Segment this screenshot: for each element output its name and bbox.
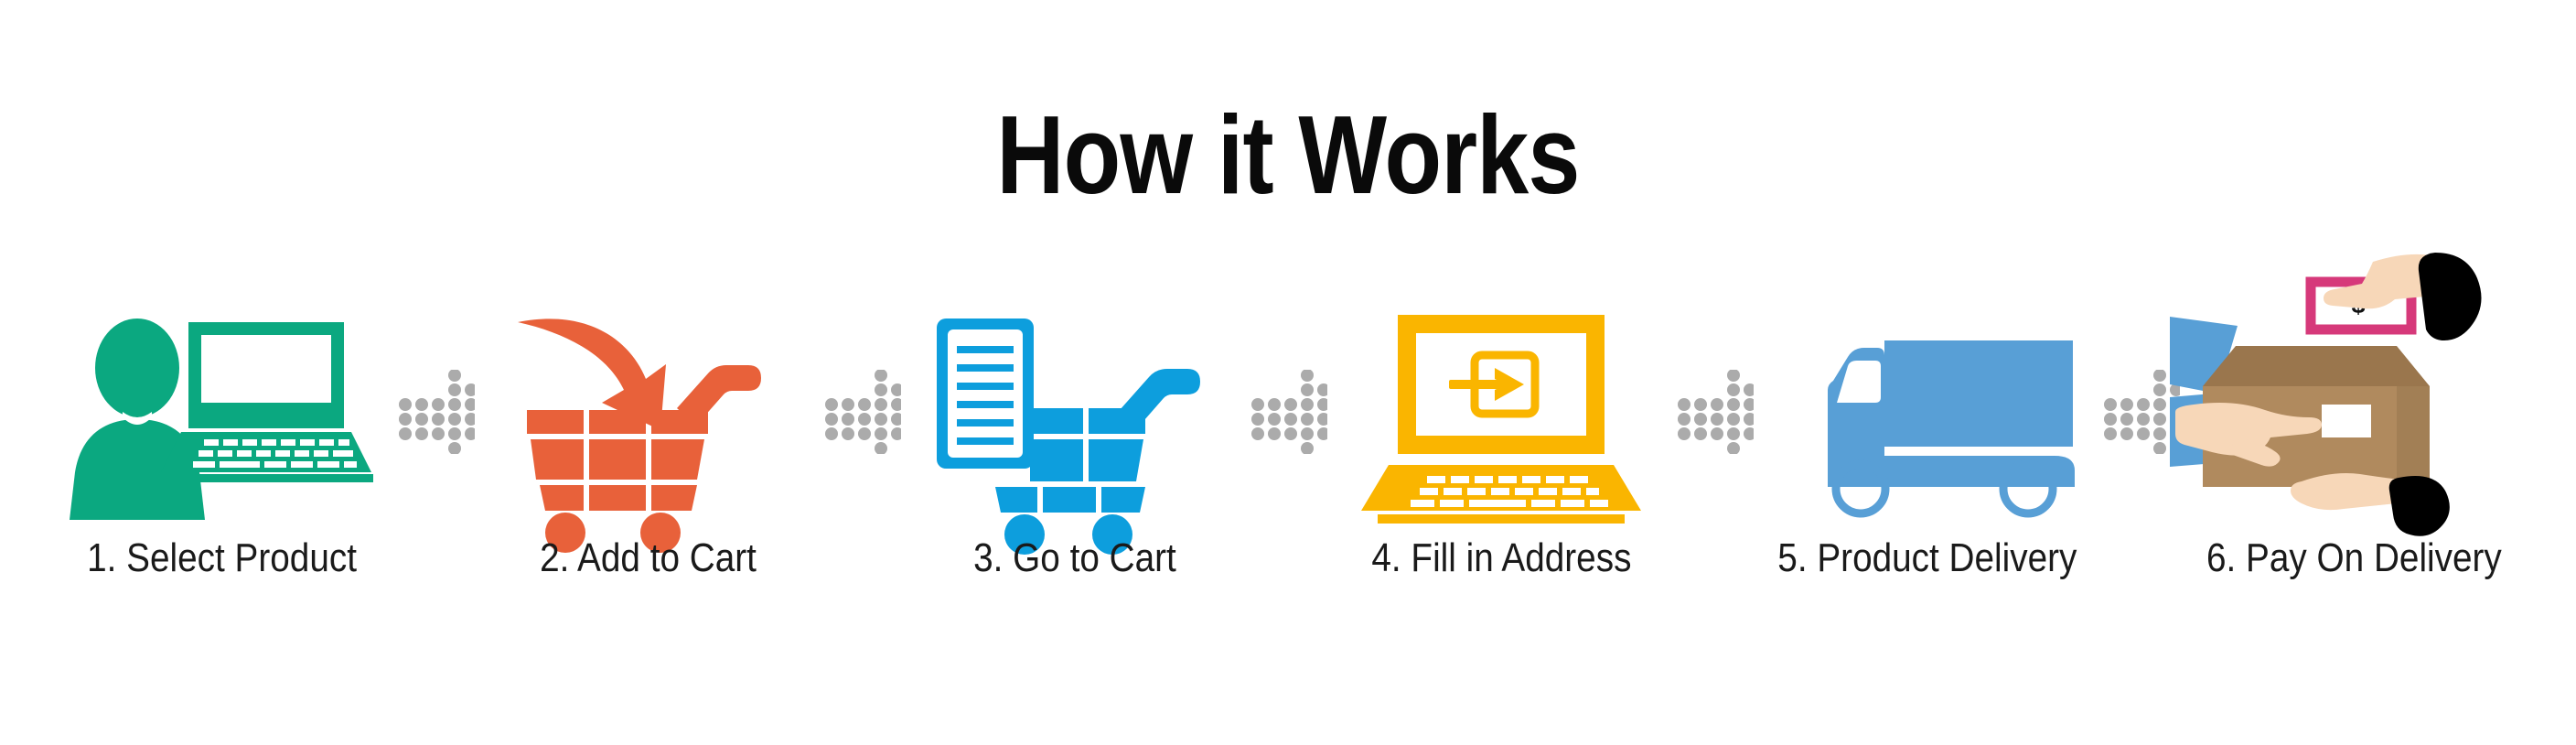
step-product-delivery[interactable]: 5. Product Delivery (1754, 302, 2101, 632)
step-select-product[interactable]: 1. Select Product (48, 302, 396, 632)
infographic-root: How it Works (0, 0, 2576, 745)
dotted-arrow-icon (2101, 370, 2180, 454)
customer-lower-hand (2291, 473, 2450, 536)
person-laptop-icon (71, 302, 373, 522)
document-cart-icon (924, 302, 1226, 522)
dotted-arrow-icon (822, 370, 901, 454)
icon-container (1350, 302, 1652, 522)
icon-container (924, 302, 1226, 522)
step-label: 4. Fill in Address (1371, 534, 1631, 582)
step-label: 2. Add to Cart (541, 534, 757, 582)
cart-arrow-icon (498, 302, 800, 522)
dotted-arrow-connector (1675, 302, 1754, 522)
icon-container (498, 302, 800, 522)
dotted-arrow-connector (396, 302, 475, 522)
step-go-to-cart[interactable]: 3. Go to Cart (901, 302, 1249, 632)
delivery-truck-icon (1776, 302, 2078, 522)
dotted-arrow-connector (1249, 302, 1327, 522)
icon-container (1776, 302, 2078, 522)
page-title: How it Works (206, 99, 2369, 211)
dotted-arrow-icon (1249, 370, 1327, 454)
icon-container: $ (2203, 302, 2505, 522)
hands-box-money-icon: $ (2203, 302, 2505, 522)
dotted-arrow-icon (396, 370, 475, 454)
step-fill-in-address[interactable]: 4. Fill in Address (1327, 302, 1675, 632)
step-add-to-cart[interactable]: 2. Add to Cart (475, 302, 822, 632)
dotted-arrow-connector (2101, 302, 2180, 522)
steps-strip: 1. Select Product (0, 302, 2576, 632)
step-pay-on-delivery[interactable]: $ (2180, 302, 2528, 632)
dotted-arrow-icon (1675, 370, 1754, 454)
icon-container (71, 302, 373, 522)
step-label: 1. Select Product (88, 534, 358, 582)
step-label: 5. Product Delivery (1777, 534, 2077, 582)
step-label: 3. Go to Cart (973, 534, 1176, 582)
step-label: 6. Pay On Delivery (2206, 534, 2502, 582)
laptop-login-icon (1350, 302, 1652, 522)
dotted-arrow-connector (822, 302, 901, 522)
